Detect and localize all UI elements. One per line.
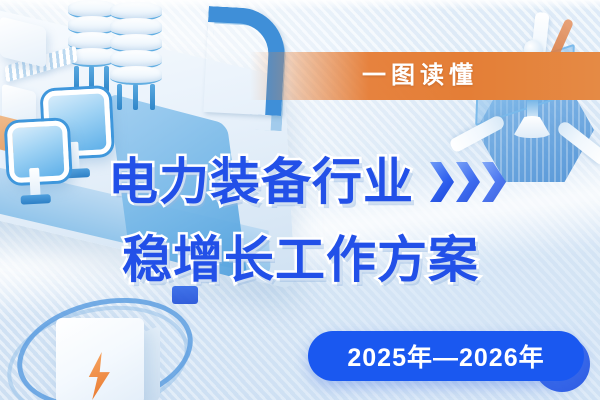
date-badge: 2025年—2026年 (308, 331, 584, 381)
poster-root: 一图读懂 电力装备行业 稳增长工作方案 2025年—2026年 (0, 0, 600, 400)
chevron-group-icon (430, 162, 506, 202)
date-badge-label: 2025年—2026年 (347, 338, 544, 374)
ribbon-label: 一图读懂 (362, 56, 478, 96)
chevron-right-icon (482, 162, 506, 202)
solar-panel-secondary-icon (7, 121, 60, 174)
headline-line-2: 稳增长工作方案 (122, 229, 479, 291)
cooling-tower-secondary-icon (110, 2, 162, 110)
chevron-right-icon (456, 162, 480, 202)
headline-row-1: 电力装备行业 (108, 146, 600, 218)
chevron-right-icon (430, 162, 454, 202)
headline-block: 电力装备行业 稳增长工作方案 (108, 146, 600, 296)
headline-row-2: 稳增长工作方案 (122, 224, 600, 296)
headline-line-1: 电力装备行业 (108, 151, 414, 213)
